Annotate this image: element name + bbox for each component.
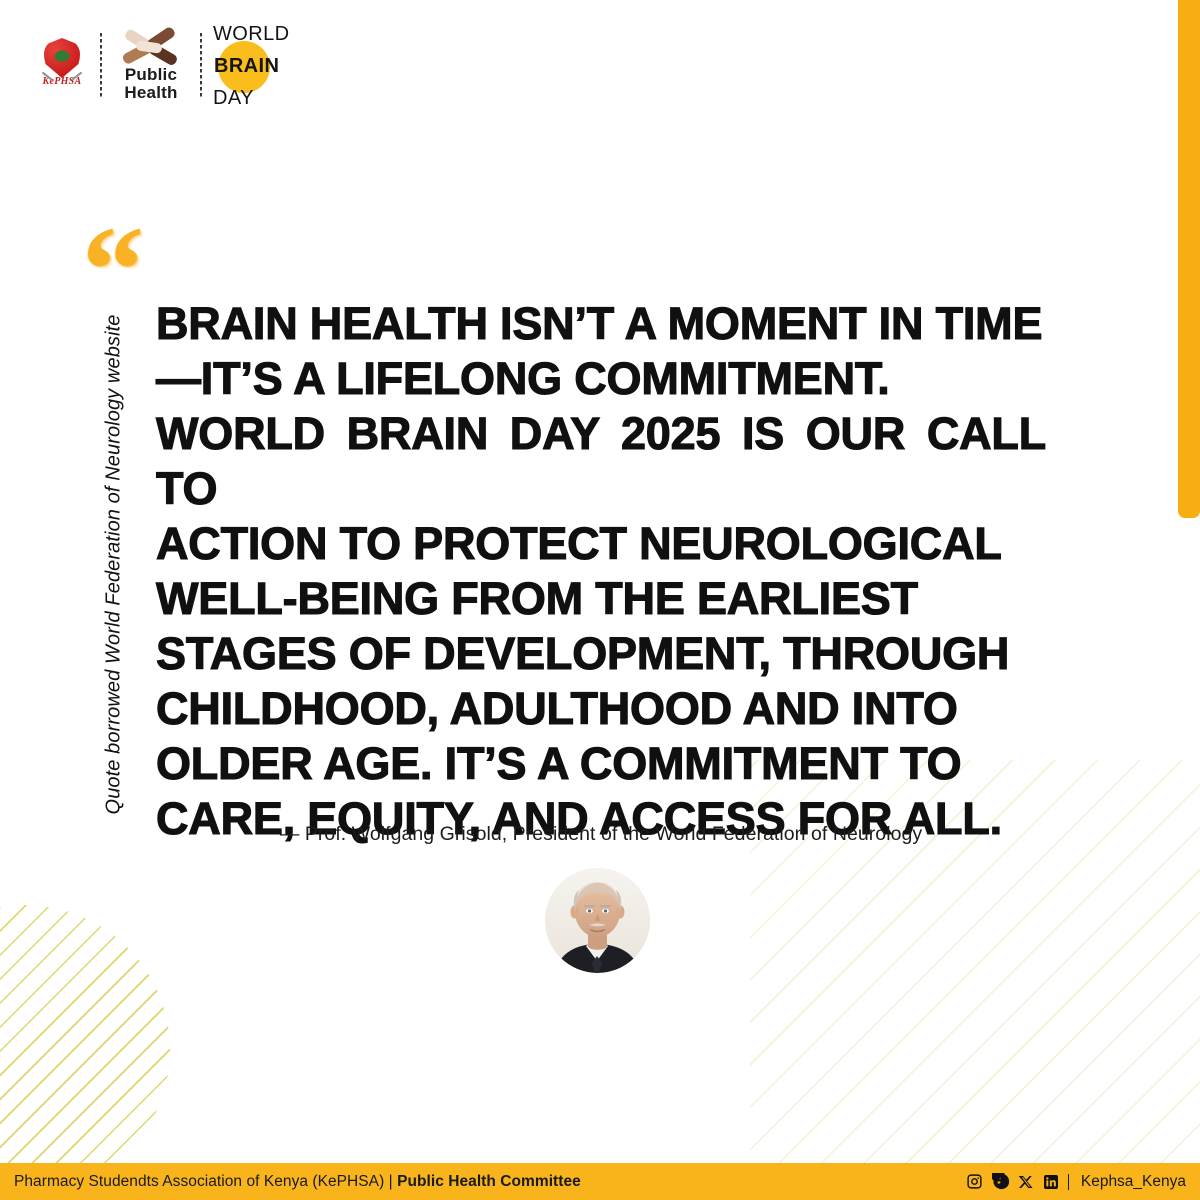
kephsa-shield-icon bbox=[44, 38, 80, 78]
public-health-line-2: Health bbox=[124, 84, 177, 102]
x-twitter-icon[interactable] bbox=[1018, 1174, 1034, 1190]
quote-line: CHILDHOOD, ADULTHOOD AND INTO bbox=[156, 681, 1046, 736]
footer-divider bbox=[1068, 1174, 1069, 1190]
quote-line: WORLD BRAIN DAY 2025 IS OUR CALL TO bbox=[156, 406, 1046, 516]
linkedin-icon[interactable] bbox=[1043, 1174, 1059, 1190]
helping-hands-icon bbox=[120, 31, 182, 65]
footer-social-group: Kephsa_Kenya bbox=[966, 1173, 1186, 1191]
quote-line: —IT’S A LIFELONG COMMITMENT. bbox=[156, 351, 1046, 406]
poster-canvas: KePHSA Public Health WORLD BRAIN DAY “ Q… bbox=[0, 0, 1200, 1200]
instagram-icon[interactable] bbox=[966, 1173, 983, 1190]
footer-bar: Pharmacy Studendts Association of Kenya … bbox=[0, 1163, 1200, 1200]
quote-line: WELL-BEING FROM THE EARLIEST bbox=[156, 571, 1046, 626]
facebook-icon[interactable] bbox=[992, 1173, 1009, 1190]
quote-text: BRAIN HEALTH ISN’T A MOMENT IN TIME —IT’… bbox=[156, 296, 1046, 846]
world-brain-day-logo: WORLD BRAIN DAY bbox=[212, 24, 298, 108]
speaker-avatar bbox=[545, 868, 650, 973]
wbd-line-world: WORLD bbox=[212, 24, 289, 44]
header-logo-lockup: KePHSA Public Health WORLD BRAIN DAY bbox=[34, 24, 298, 108]
kephsa-logo: KePHSA bbox=[34, 35, 90, 97]
footer-org-label: Pharmacy Studendts Association of Kenya … bbox=[14, 1173, 397, 1190]
quote-line: OLDER AGE. IT’S A COMMITMENT TO bbox=[156, 736, 1046, 791]
public-health-logo: Public Health bbox=[112, 31, 190, 102]
logo-divider-2 bbox=[200, 33, 202, 99]
public-health-line-1: Public bbox=[124, 66, 177, 84]
quote-attribution: — Prof. Wolfgang Grisold, President of t… bbox=[156, 823, 1046, 846]
quote-line: BRAIN HEALTH ISN’T A MOMENT IN TIME bbox=[156, 296, 1046, 351]
footer-committee-label: Public Health Committee bbox=[397, 1173, 581, 1190]
right-accent-bar bbox=[1178, 0, 1200, 518]
bottom-left-stripe-circle bbox=[0, 905, 170, 1195]
vertical-source-credit-text: Quote borrowed World Federation of Neuro… bbox=[103, 315, 126, 815]
logo-divider-1 bbox=[100, 33, 102, 99]
wbd-line-day: DAY bbox=[212, 88, 254, 108]
footer-org-text: Pharmacy Studendts Association of Kenya … bbox=[14, 1173, 581, 1191]
vertical-source-credit: Quote borrowed World Federation of Neuro… bbox=[97, 295, 131, 855]
quote-line: ACTION TO PROTECT NEUROLOGICAL bbox=[156, 516, 1046, 571]
wbd-line-brain: BRAIN bbox=[212, 56, 279, 76]
quote-line: STAGES OF DEVELOPMENT, THROUGH bbox=[156, 626, 1046, 681]
social-handle[interactable]: Kephsa_Kenya bbox=[1081, 1173, 1186, 1191]
